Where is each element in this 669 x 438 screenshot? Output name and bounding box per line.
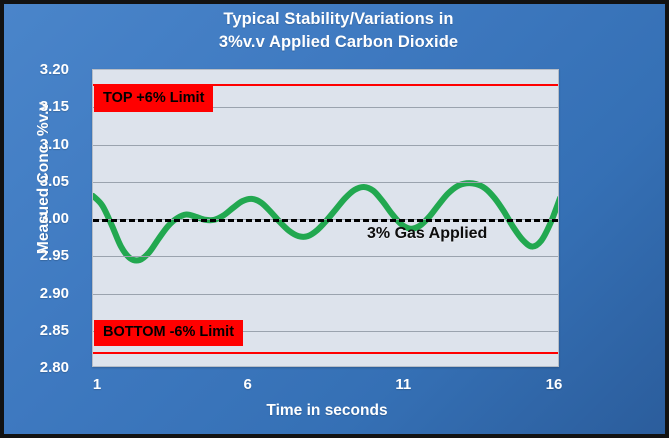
x-tick-label: 1 xyxy=(77,376,117,393)
y-tick-label: 3.15 xyxy=(5,99,69,114)
bottom-limit-line xyxy=(93,352,558,354)
x-axis-title: Time in seconds xyxy=(92,402,562,420)
y-tick-label: 2.90 xyxy=(5,286,69,301)
chart-figure: Typical Stability/Variations in 3%v.v Ap… xyxy=(0,0,669,438)
gridline xyxy=(93,294,558,295)
gridline xyxy=(93,182,558,183)
top-limit-label: TOP +6% Limit xyxy=(94,86,213,112)
page-title: Typical Stability/Variations in 3%v.v Ap… xyxy=(4,8,669,55)
chart-title-line-2: 3%v.v Applied Carbon Dioxide xyxy=(4,31,669,54)
y-tick-label: 3.10 xyxy=(5,137,69,152)
y-tick-label: 3.00 xyxy=(5,211,69,226)
y-tick-label: 2.95 xyxy=(5,248,69,263)
y-tick-label: 2.80 xyxy=(5,360,69,375)
y-tick-label: 3.05 xyxy=(5,174,69,189)
y-tick-label: 3.20 xyxy=(5,62,69,77)
gridline xyxy=(93,145,558,146)
y-tick-label: 2.85 xyxy=(5,323,69,338)
x-tick-label: 11 xyxy=(383,376,423,393)
x-tick-label: 6 xyxy=(228,376,268,393)
x-tick-label: 16 xyxy=(534,376,574,393)
mean-annotation-label: 3% Gas Applied xyxy=(367,225,487,243)
mean-reference-line xyxy=(93,219,558,222)
bottom-limit-label: BOTTOM -6% Limit xyxy=(94,320,243,346)
gridline xyxy=(93,256,558,257)
chart-title-line-1: Typical Stability/Variations in xyxy=(4,8,669,31)
